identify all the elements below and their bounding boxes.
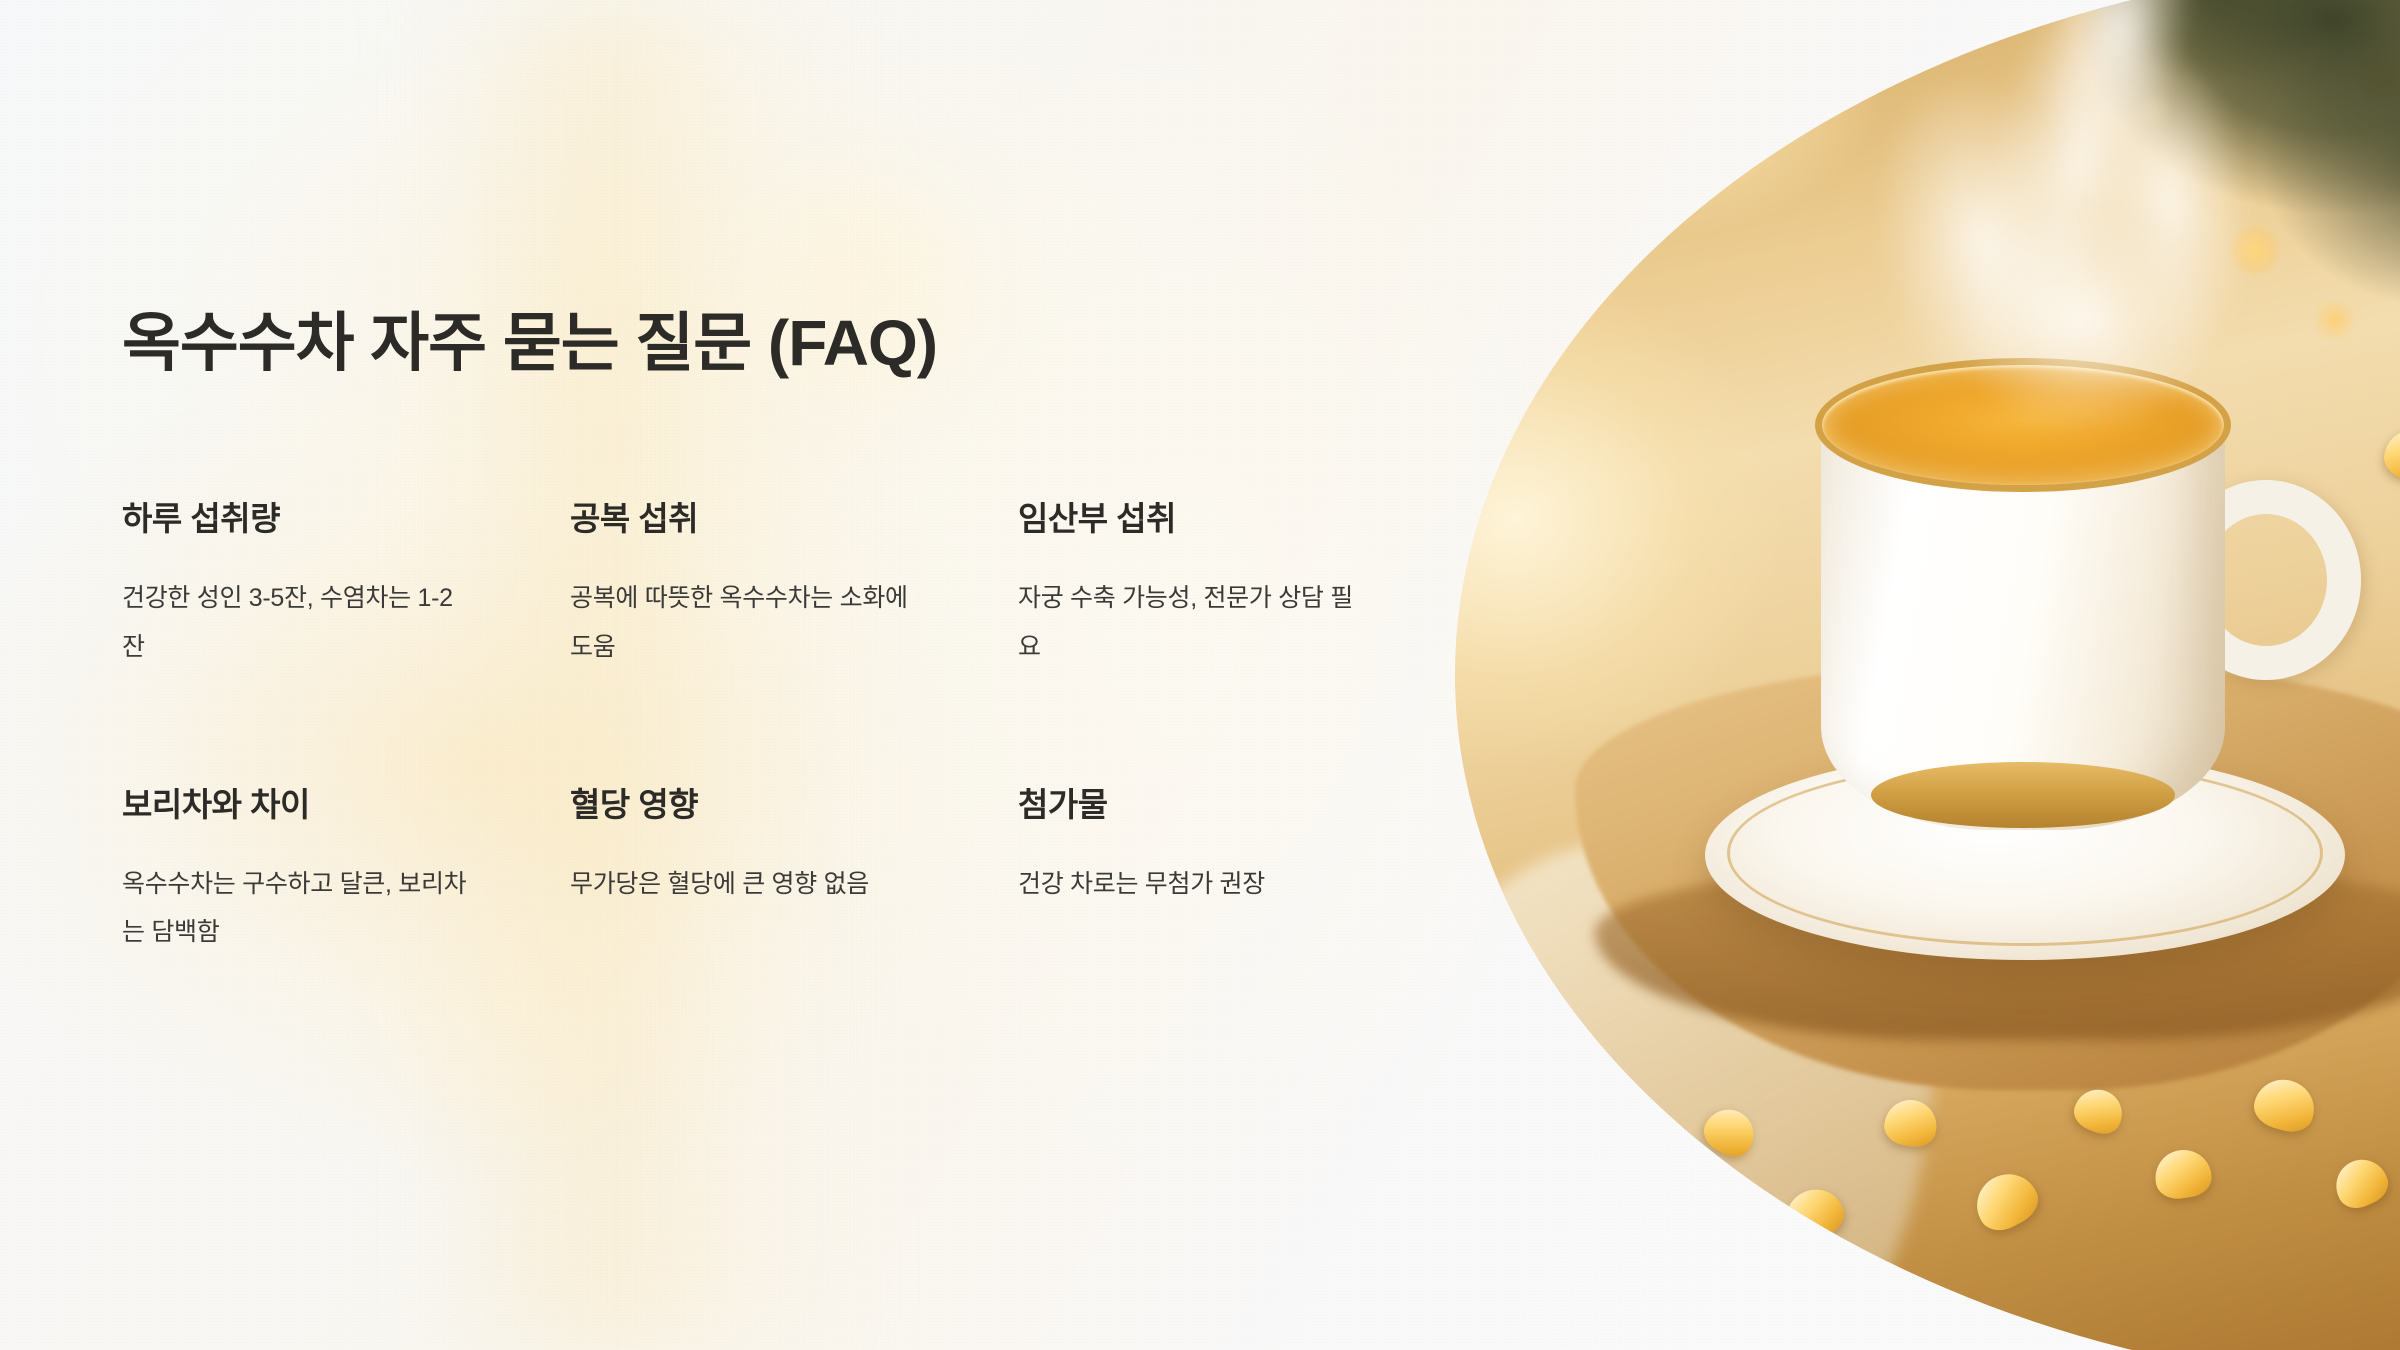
faq-question: 임산부 섭취 [1018,492,1378,540]
corn-tea-photo [1455,0,2400,1350]
faq-question: 첨가물 [1018,778,1378,826]
page-title: 옥수수차 자주 묻는 질문 (FAQ) [122,292,937,384]
faq-item-empty-stomach[interactable]: 공복 섭취 공복에 따뜻한 옥수수차는 소화에 도움 [570,492,930,672]
corn-kernel [2152,1146,2214,1201]
faq-question: 하루 섭취량 [122,492,482,540]
steam-wisp [1955,210,2215,430]
faq-slide: 옥수수차 자주 묻는 질문 (FAQ) 하루 섭취량 건강한 성인 3-5잔, … [0,0,2400,1350]
corn-kernel [2249,1073,2320,1138]
corn-kernel [2328,1151,2394,1214]
faq-answer: 건강한 성인 3-5잔, 수염차는 1-2잔 [122,574,474,672]
faq-item-barley-tea-difference[interactable]: 보리차와 차이 옥수수차는 구수하고 달큰, 보리차는 담백함 [122,778,482,958]
faq-item-blood-sugar[interactable]: 혈당 영향 무가당은 혈당에 큰 영향 없음 [570,778,930,958]
faq-answer: 자궁 수축 가능성, 전문가 상담 필요 [1018,574,1370,672]
corn-kernel [2380,425,2400,486]
cup-gold-foot [1871,762,2175,828]
hero-photo-panel [1455,0,2400,1350]
corn-kernel [1966,1163,2045,1238]
faq-answer: 옥수수차는 구수하고 달큰, 보리차는 담백함 [122,860,474,958]
faq-item-daily-intake[interactable]: 하루 섭취량 건강한 성인 3-5잔, 수염차는 1-2잔 [122,492,482,672]
faq-question: 혈당 영향 [570,778,930,826]
faq-question: 공복 섭취 [570,492,930,540]
faq-answer: 건강 차로는 무첨가 권장 [1018,860,1370,909]
corn-kernel [2069,1083,2129,1140]
faq-item-additives[interactable]: 첨가물 건강 차로는 무첨가 권장 [1018,778,1378,958]
faq-answer: 공복에 따뜻한 옥수수차는 소화에 도움 [570,574,922,672]
faq-answer: 무가당은 혈당에 큰 영향 없음 [570,860,922,909]
faq-grid: 하루 섭취량 건강한 성인 3-5잔, 수염차는 1-2잔 공복 섭취 공복에 … [122,492,1422,957]
faq-item-pregnancy[interactable]: 임산부 섭취 자궁 수축 가능성, 전문가 상담 필요 [1018,492,1378,672]
faq-question: 보리차와 차이 [122,778,482,826]
